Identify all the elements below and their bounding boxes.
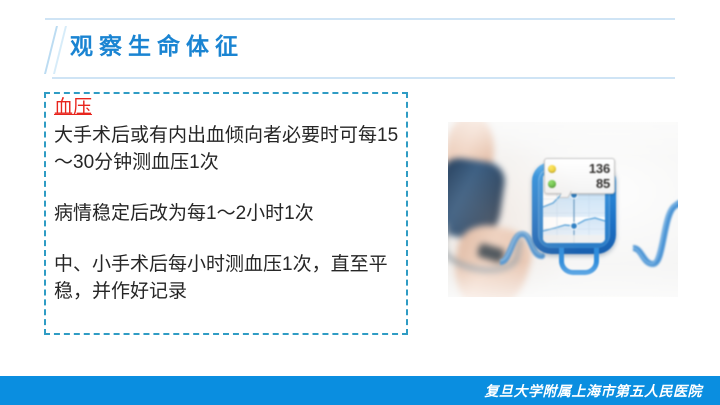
footer-institution-name: 复旦大学附属上海市第五人民医院: [485, 381, 703, 401]
paragraph-3: 中、小手术后每小时测血压1次，直至平稳，并作好记录: [54, 251, 410, 305]
paragraph-2: 病情稳定后改为每1～2小时1次: [54, 200, 414, 227]
page-title: 观察生命体征: [70, 31, 244, 61]
body-text-block: 血压 大手术后或有内出血倾向者必要时可每15～30分钟测血压1次 病情稳定后改为…: [54, 95, 414, 305]
paragraph-1: 大手术后或有内出血倾向者必要时可每15～30分钟测血压1次: [54, 122, 406, 176]
header-bottom-divider: [52, 77, 675, 79]
slide-canvas: 观察生命体征 血压 大手术后或有内出血倾向者必要时可每15～30分钟测血压1次 …: [0, 0, 720, 405]
title-slash-accent-icon: [44, 26, 70, 74]
header-top-divider: [45, 18, 675, 20]
blood-pressure-monitor-photo: 136 85: [448, 122, 678, 297]
section-subheading-blood-pressure: 血压: [54, 95, 414, 121]
